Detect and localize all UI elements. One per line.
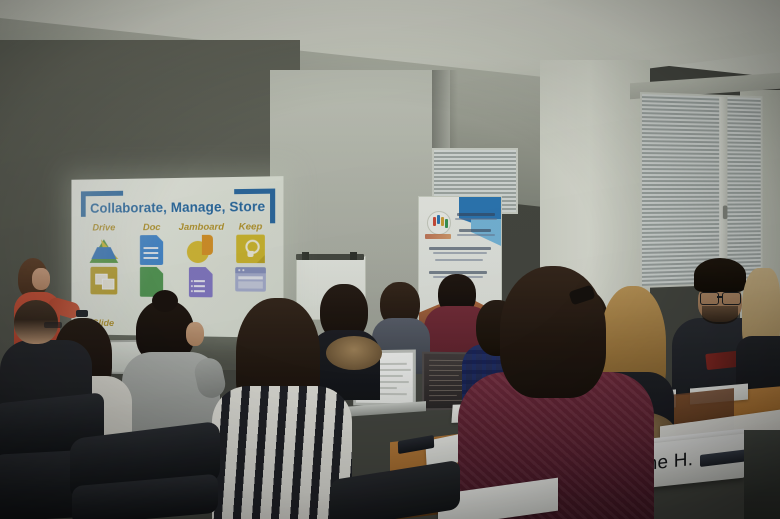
eyeglasses-icon <box>722 292 741 305</box>
google-slides-icon <box>89 267 118 297</box>
slide-app-jamboard: Jamboard <box>179 222 223 265</box>
attendee-body <box>744 430 780 519</box>
attendee-face <box>186 322 204 346</box>
venetian-blinds-icon <box>642 94 761 286</box>
slide-app-sites <box>228 267 273 298</box>
attendee-beard <box>702 306 738 324</box>
window-right <box>640 92 762 288</box>
attendee-hair <box>694 258 746 292</box>
google-keep-icon <box>235 235 266 266</box>
slide-icon-row-top: Drive Doc Jamboard <box>83 221 273 265</box>
google-drive-icon <box>89 235 118 265</box>
banner-logo-wordmark <box>425 234 451 239</box>
slide-app-slides <box>83 267 125 297</box>
slide-icon-row-bottom <box>83 267 273 298</box>
hair-bun <box>152 290 178 312</box>
slide-icon-grid: Drive Doc Jamboard <box>83 221 273 300</box>
fur-collar <box>326 336 382 370</box>
google-sites-icon <box>235 267 266 298</box>
banner-logo-icon <box>427 211 451 235</box>
flipchart-clip-right <box>350 252 357 260</box>
flipchart-clip-left <box>302 252 309 260</box>
eyeglasses-icon <box>700 292 719 305</box>
photo-scene: Collaborate, Manage, Store Drive Doc <box>0 0 780 519</box>
banner-corner-accent-light <box>471 219 501 263</box>
slide-app-keep: Keep <box>228 221 273 265</box>
google-forms-icon <box>186 267 216 297</box>
google-jamboard-icon <box>186 235 216 265</box>
slide-app-forms <box>179 267 223 297</box>
eyeglasses-bridge <box>717 296 723 298</box>
slide-app-keep-label: Keep <box>228 221 273 232</box>
presenter-remote-clicker <box>76 310 88 317</box>
slide-app-drive: Drive <box>83 222 125 265</box>
slide-app-doc: Doc <box>130 222 173 265</box>
slide-app-doc-label: Doc <box>130 222 173 233</box>
slide-title: Collaborate, Manage, Store <box>85 199 271 216</box>
eyeglasses-icon <box>44 322 62 328</box>
google-docs-icon <box>137 235 166 265</box>
slide-bracket-top-left <box>81 191 123 197</box>
presenter-face <box>32 268 50 290</box>
window-handle[interactable] <box>723 206 728 220</box>
slide-app-jamboard-label: Jamboard <box>179 222 223 233</box>
slide-app-drive-label: Drive <box>83 222 125 233</box>
